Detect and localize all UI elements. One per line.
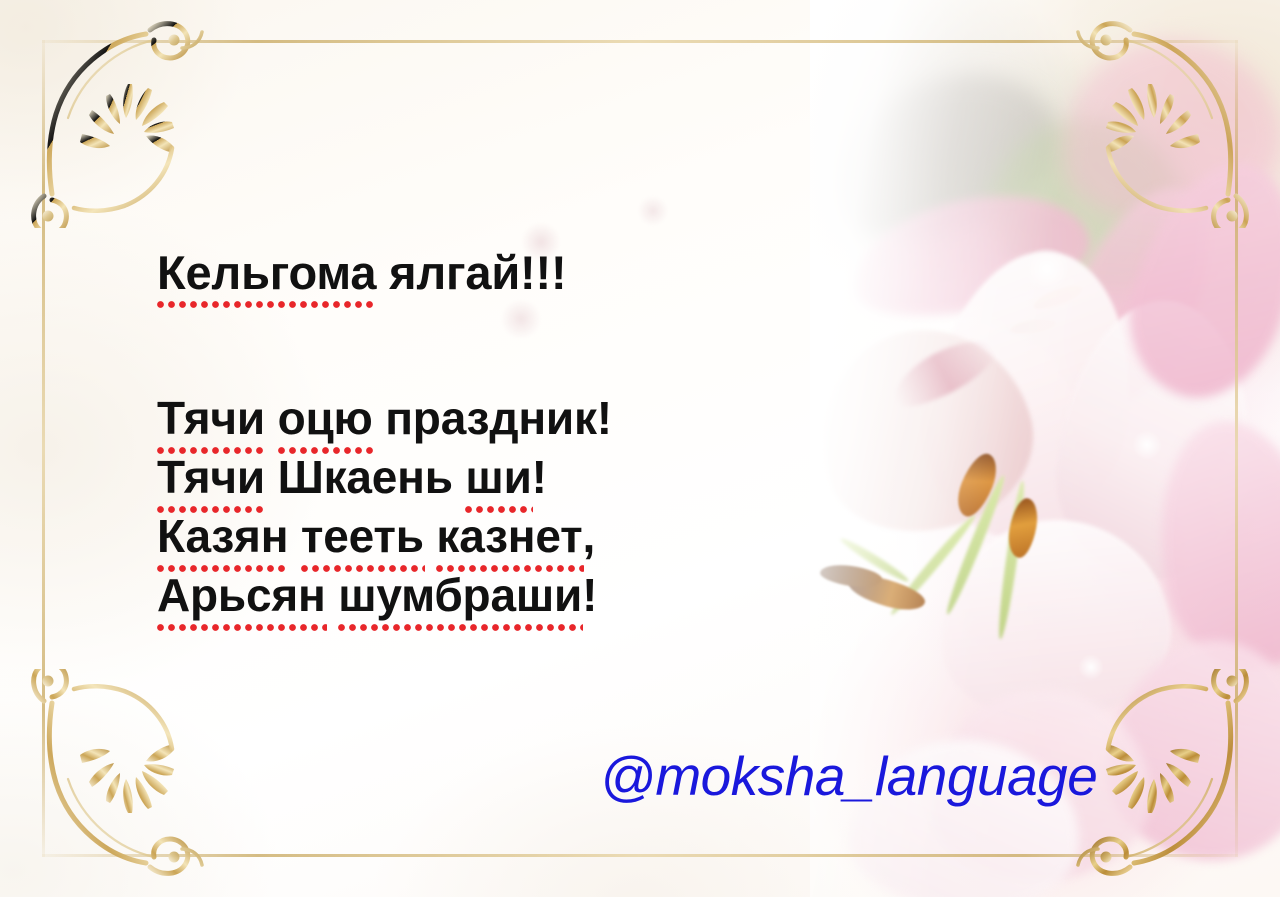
word-space xyxy=(265,392,278,444)
spellchecked-word: казнет xyxy=(436,507,582,566)
spellchecked-word: Казян xyxy=(157,507,288,566)
spellchecked-word: Кельгома xyxy=(157,243,376,302)
word-space xyxy=(326,569,339,621)
line-rest: , xyxy=(583,510,596,562)
greeting-title-line: Кельгома ялгай!!! xyxy=(157,243,857,302)
line-mid: Шкаень xyxy=(265,451,465,503)
greeting-line-2: Тячи Шкаень ши! xyxy=(157,448,857,507)
account-handle-watermark: @moksha_language xyxy=(600,744,1097,808)
speckle-texture-3 xyxy=(636,196,670,226)
line-rest: праздник! xyxy=(373,392,612,444)
word-space xyxy=(288,510,301,562)
frame-line-right xyxy=(1235,40,1238,857)
greeting-line-4: Арьсян шумбраши! xyxy=(157,566,857,625)
frame-line-left xyxy=(42,40,45,857)
greeting-card: Кельгома ялгай!!! Тячи оцю праздник! Тяч… xyxy=(0,0,1280,897)
line-rest: ! xyxy=(532,451,547,503)
spellchecked-word: тееть xyxy=(301,507,424,566)
spellchecked-word: шумбраши xyxy=(338,566,582,625)
word-space xyxy=(424,510,437,562)
title-line-rest: ялгай!!! xyxy=(376,246,566,299)
frame-line-top xyxy=(42,40,1238,43)
greeting-line-3: Казян тееть казнет, xyxy=(157,507,857,566)
spellchecked-word: ши xyxy=(465,448,531,507)
greeting-line-1: Тячи оцю праздник! xyxy=(157,389,857,448)
spellchecked-word: Тячи xyxy=(157,389,265,448)
spellchecked-word: Тячи xyxy=(157,448,265,507)
greeting-text-block: Кельгома ялгай!!! Тячи оцю праздник! Тяч… xyxy=(157,243,857,625)
spellchecked-word: Арьсян xyxy=(157,566,326,625)
line-rest: ! xyxy=(582,569,597,621)
spellchecked-word: оцю xyxy=(278,389,373,448)
frame-line-bottom xyxy=(42,854,1238,857)
